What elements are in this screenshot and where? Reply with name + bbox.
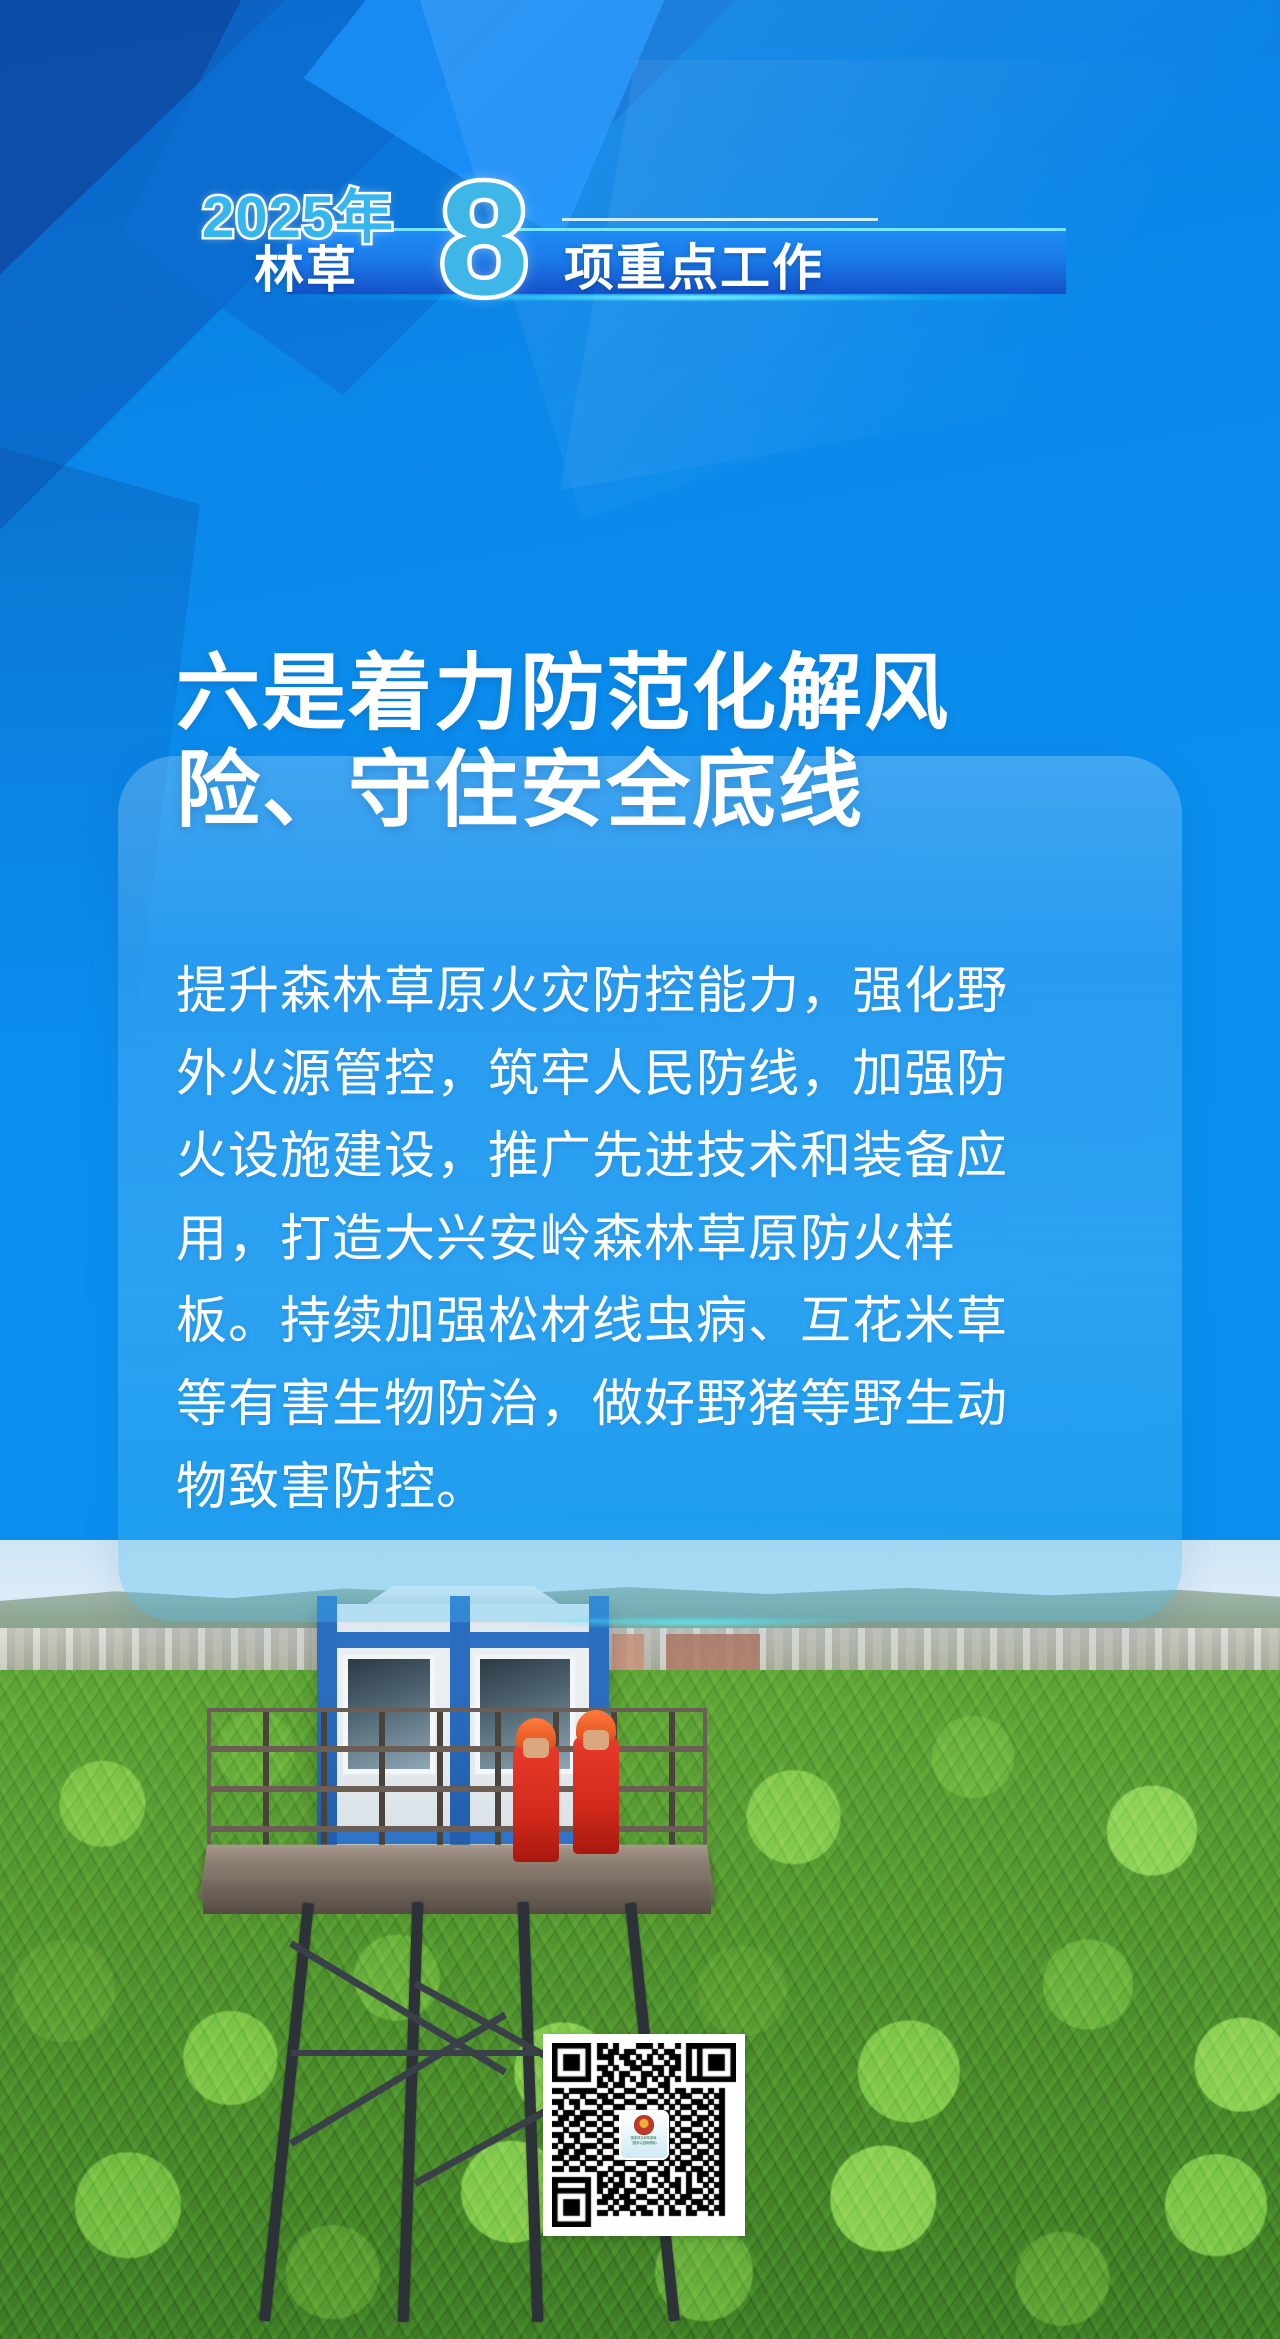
header-prefix: 林草 <box>254 230 358 302</box>
header-logo: 2025年 林草 8 项重点工作 <box>176 176 1066 294</box>
qr-badge-line-1: 国家林业和草原局 <box>631 2136 657 2140</box>
qr-center-badge: 国家林业和草原局 （国家公园管理局） <box>619 2110 669 2160</box>
ranger-face-right <box>583 1730 609 1750</box>
body-line-7: 物致害防控。 <box>176 1446 1126 1529</box>
ranger-person-right <box>573 1736 619 1854</box>
poster-root: 2025年 林草 8 项重点工作 六是着力防范化解风 险、守住安全底线 提升森林… <box>0 0 1280 2339</box>
body-paragraph: 提升森林草原火灾防控能力，强化野 外火源管控，筑牢人民防线，加强防 火设施建设，… <box>176 950 1126 1528</box>
body-line-5: 板。持续加强松材线虫病、互花米草 <box>176 1280 1126 1363</box>
body-line-6: 等有害生物防治，做好野猪等野生动 <box>176 1363 1126 1446</box>
ranger-person-left <box>513 1744 559 1862</box>
page-title-line-2: 险、守住安全底线 <box>176 742 1136 839</box>
body-line-1: 提升森林草原火灾防控能力，强化野 <box>176 950 1126 1033</box>
ranger-face-left <box>523 1738 549 1758</box>
header-count-badge: 8 <box>408 154 560 324</box>
qr-badge-line-2: （国家公园管理局） <box>629 2141 658 2145</box>
watchtower-brace-2 <box>289 2012 507 2147</box>
body-line-2: 外火源管控，筑牢人民防线，加强防 <box>176 1033 1126 1116</box>
page-title-line-1: 六是着力防范化解风 <box>176 645 1136 742</box>
watchtower-leg-2 <box>398 1902 424 2322</box>
national-emblem-icon <box>634 2115 654 2135</box>
watchtower-leg-1 <box>259 1903 314 2322</box>
watchtower-railing <box>207 1708 707 1864</box>
header-logo-rule <box>562 218 878 221</box>
page-title: 六是着力防范化解风 险、守住安全底线 <box>176 645 1136 840</box>
header-suffix: 项重点工作 <box>564 228 824 300</box>
body-line-3: 火设施建设，推广先进技术和装备应 <box>176 1115 1126 1198</box>
body-line-4: 用，打造大兴安岭森林草原防火样 <box>176 1198 1126 1281</box>
wechat-qr-code[interactable]: 国家林业和草原局 （国家公园管理局） <box>543 2034 745 2236</box>
